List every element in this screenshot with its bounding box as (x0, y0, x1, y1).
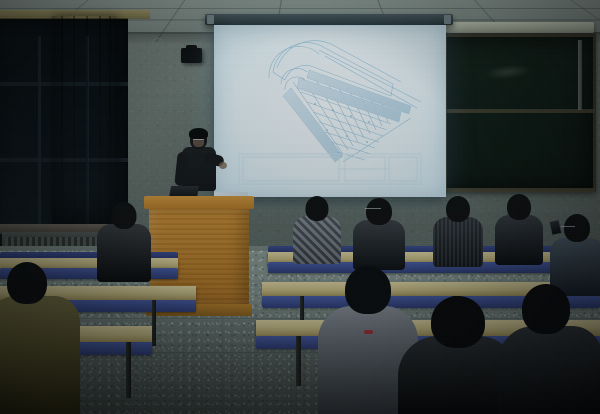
student-body (293, 216, 341, 264)
student-center-glasses (352, 198, 406, 268)
student-body (433, 217, 483, 267)
student-head (112, 202, 137, 229)
student-glasses-icon (365, 208, 381, 213)
student-phone-user (550, 212, 600, 294)
desk-leg (126, 342, 131, 398)
board-light-fixture (446, 22, 594, 33)
student-head (446, 196, 470, 222)
student-right-back (494, 194, 544, 262)
desk-leg (296, 336, 301, 386)
wall-speaker-icon (181, 48, 202, 63)
projection-screen (214, 25, 446, 197)
ceiling-vent-icon (152, 38, 163, 45)
phone-icon (549, 219, 563, 236)
lectern-top (144, 196, 254, 209)
screen-housing (205, 14, 453, 25)
student-head (507, 194, 531, 220)
student-head (522, 284, 570, 334)
student-body (495, 215, 543, 265)
student-body (97, 224, 151, 282)
student-body (0, 296, 80, 414)
cad-drawing (215, 26, 445, 196)
wall-pipe (578, 40, 582, 110)
desk-leg (152, 300, 156, 346)
student-left-black-jacket (96, 202, 152, 282)
classroom-photo (0, 0, 600, 414)
student-head (431, 296, 485, 348)
student-left-olive-coat (0, 262, 80, 414)
chalkboard (444, 34, 596, 192)
hoodie-logo (364, 330, 373, 334)
presenter-hair (189, 128, 208, 139)
chalk-smudge (484, 63, 531, 82)
student-head (306, 196, 329, 221)
student-body (498, 326, 600, 414)
student-front-right (498, 284, 600, 414)
student-head (345, 266, 391, 314)
student-head (7, 262, 47, 304)
presenter-glasses-icon (193, 139, 204, 143)
presenter-hand (219, 162, 227, 169)
student-right-sweater (432, 196, 484, 264)
student-center-check (292, 196, 342, 262)
student-body (353, 220, 405, 270)
